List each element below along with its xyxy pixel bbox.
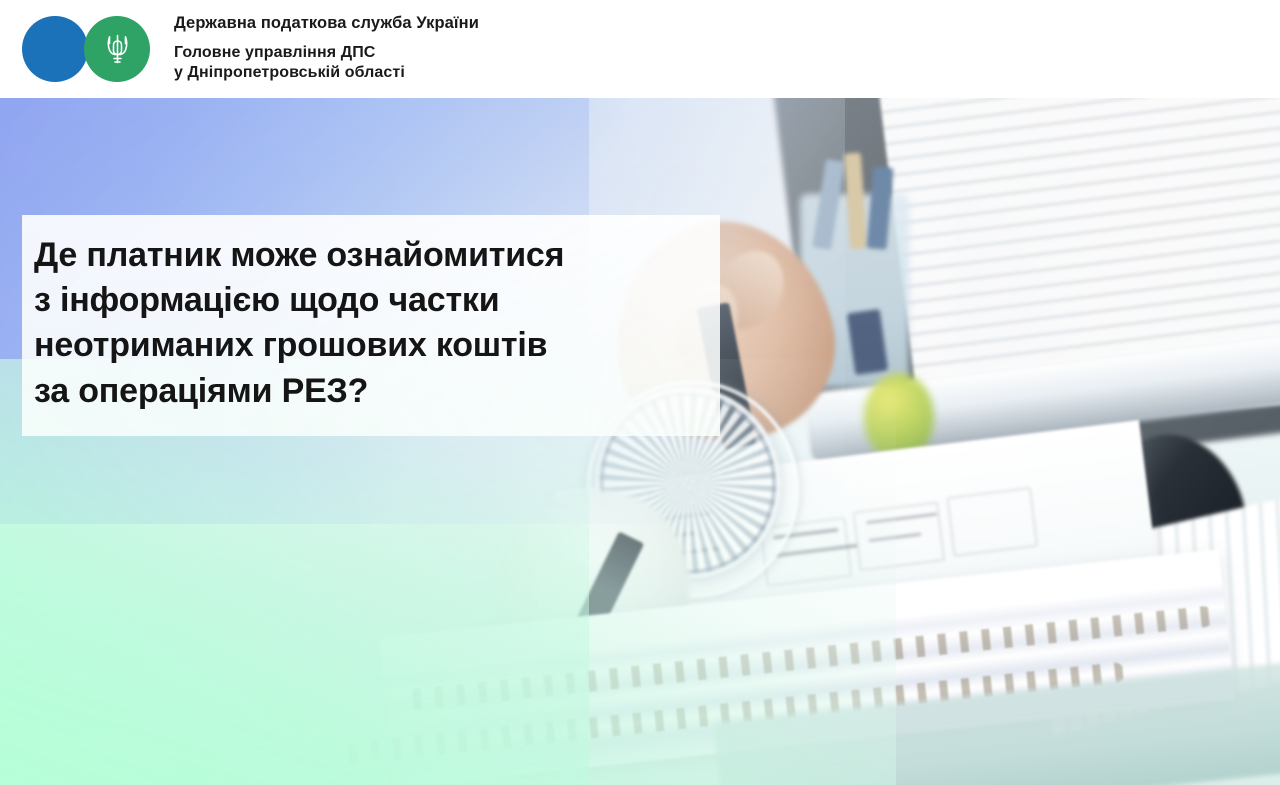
headline-line-1: Де платник може ознайомитися [34,233,720,278]
site-header: Державна податкова служба України Головн… [0,0,1280,98]
organization-name: Державна податкова служба України [174,14,479,34]
header-text-block: Державна податкова служба України Головн… [174,14,479,84]
blue-circle-mark [22,16,88,82]
logo-marks [22,16,154,82]
organization-unit: Головне управління ДПС у Дніпропетровськ… [174,43,479,84]
headline-line-2: з інформацією щодо частки [34,278,720,323]
headline-line-3: неотриманих грошових коштів [34,323,720,368]
headline-panel: Де платник може ознайомитися з інформаці… [22,215,720,436]
banner-page: Державна податкова служба України Головн… [0,0,1280,785]
organization-unit-line-2: у Дніпропетровській області [174,63,479,83]
tryzub-icon [84,16,150,82]
headline-line-4: за операціями РЕЗ? [34,369,720,414]
organization-unit-line-1: Головне управління ДПС [174,43,479,63]
page-title: Де платник може ознайомитися з інформаці… [34,233,720,414]
hero-banner [0,98,1280,785]
office-desk-photo [0,98,1280,785]
